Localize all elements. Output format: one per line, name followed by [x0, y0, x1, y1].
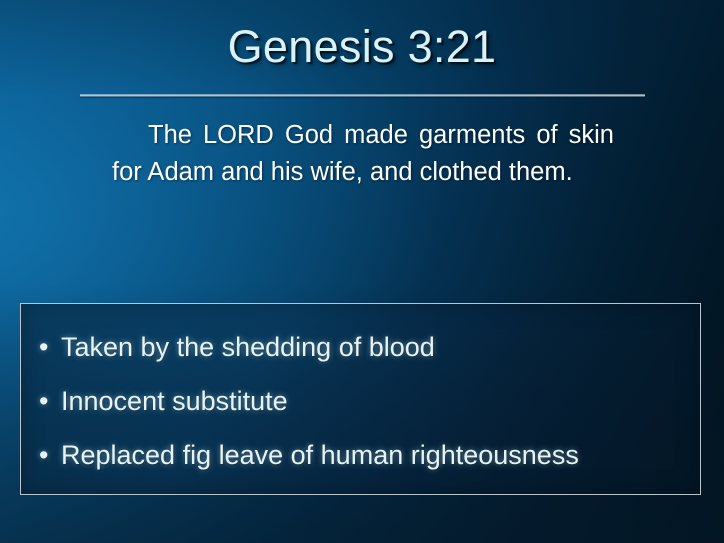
- list-item: • Innocent substitute: [21, 374, 700, 428]
- list-item: • Replaced fig leave of human righteousn…: [21, 428, 700, 482]
- scripture-text: The LORD God made garments of skin for A…: [112, 121, 614, 186]
- list-item-label: Taken by the shedding of blood: [61, 320, 435, 374]
- title-divider-rule: [80, 94, 645, 97]
- scripture-paragraph: The LORD God made garments of skin for A…: [112, 117, 614, 191]
- presentation-slide: Genesis 3:21 The LORD God made garments …: [0, 0, 724, 543]
- bullet-point-icon: •: [39, 374, 61, 428]
- list-item-label: Replaced fig leave of human righteousnes…: [61, 428, 579, 482]
- list-item: • Taken by the shedding of blood: [21, 320, 700, 374]
- bullet-list-box: • Taken by the shedding of blood • Innoc…: [20, 303, 701, 495]
- bullet-point-icon: •: [39, 320, 61, 374]
- slide-title: Genesis 3:21: [0, 23, 724, 70]
- list-item-label: Innocent substitute: [61, 374, 288, 428]
- bullet-point-icon: •: [39, 428, 61, 482]
